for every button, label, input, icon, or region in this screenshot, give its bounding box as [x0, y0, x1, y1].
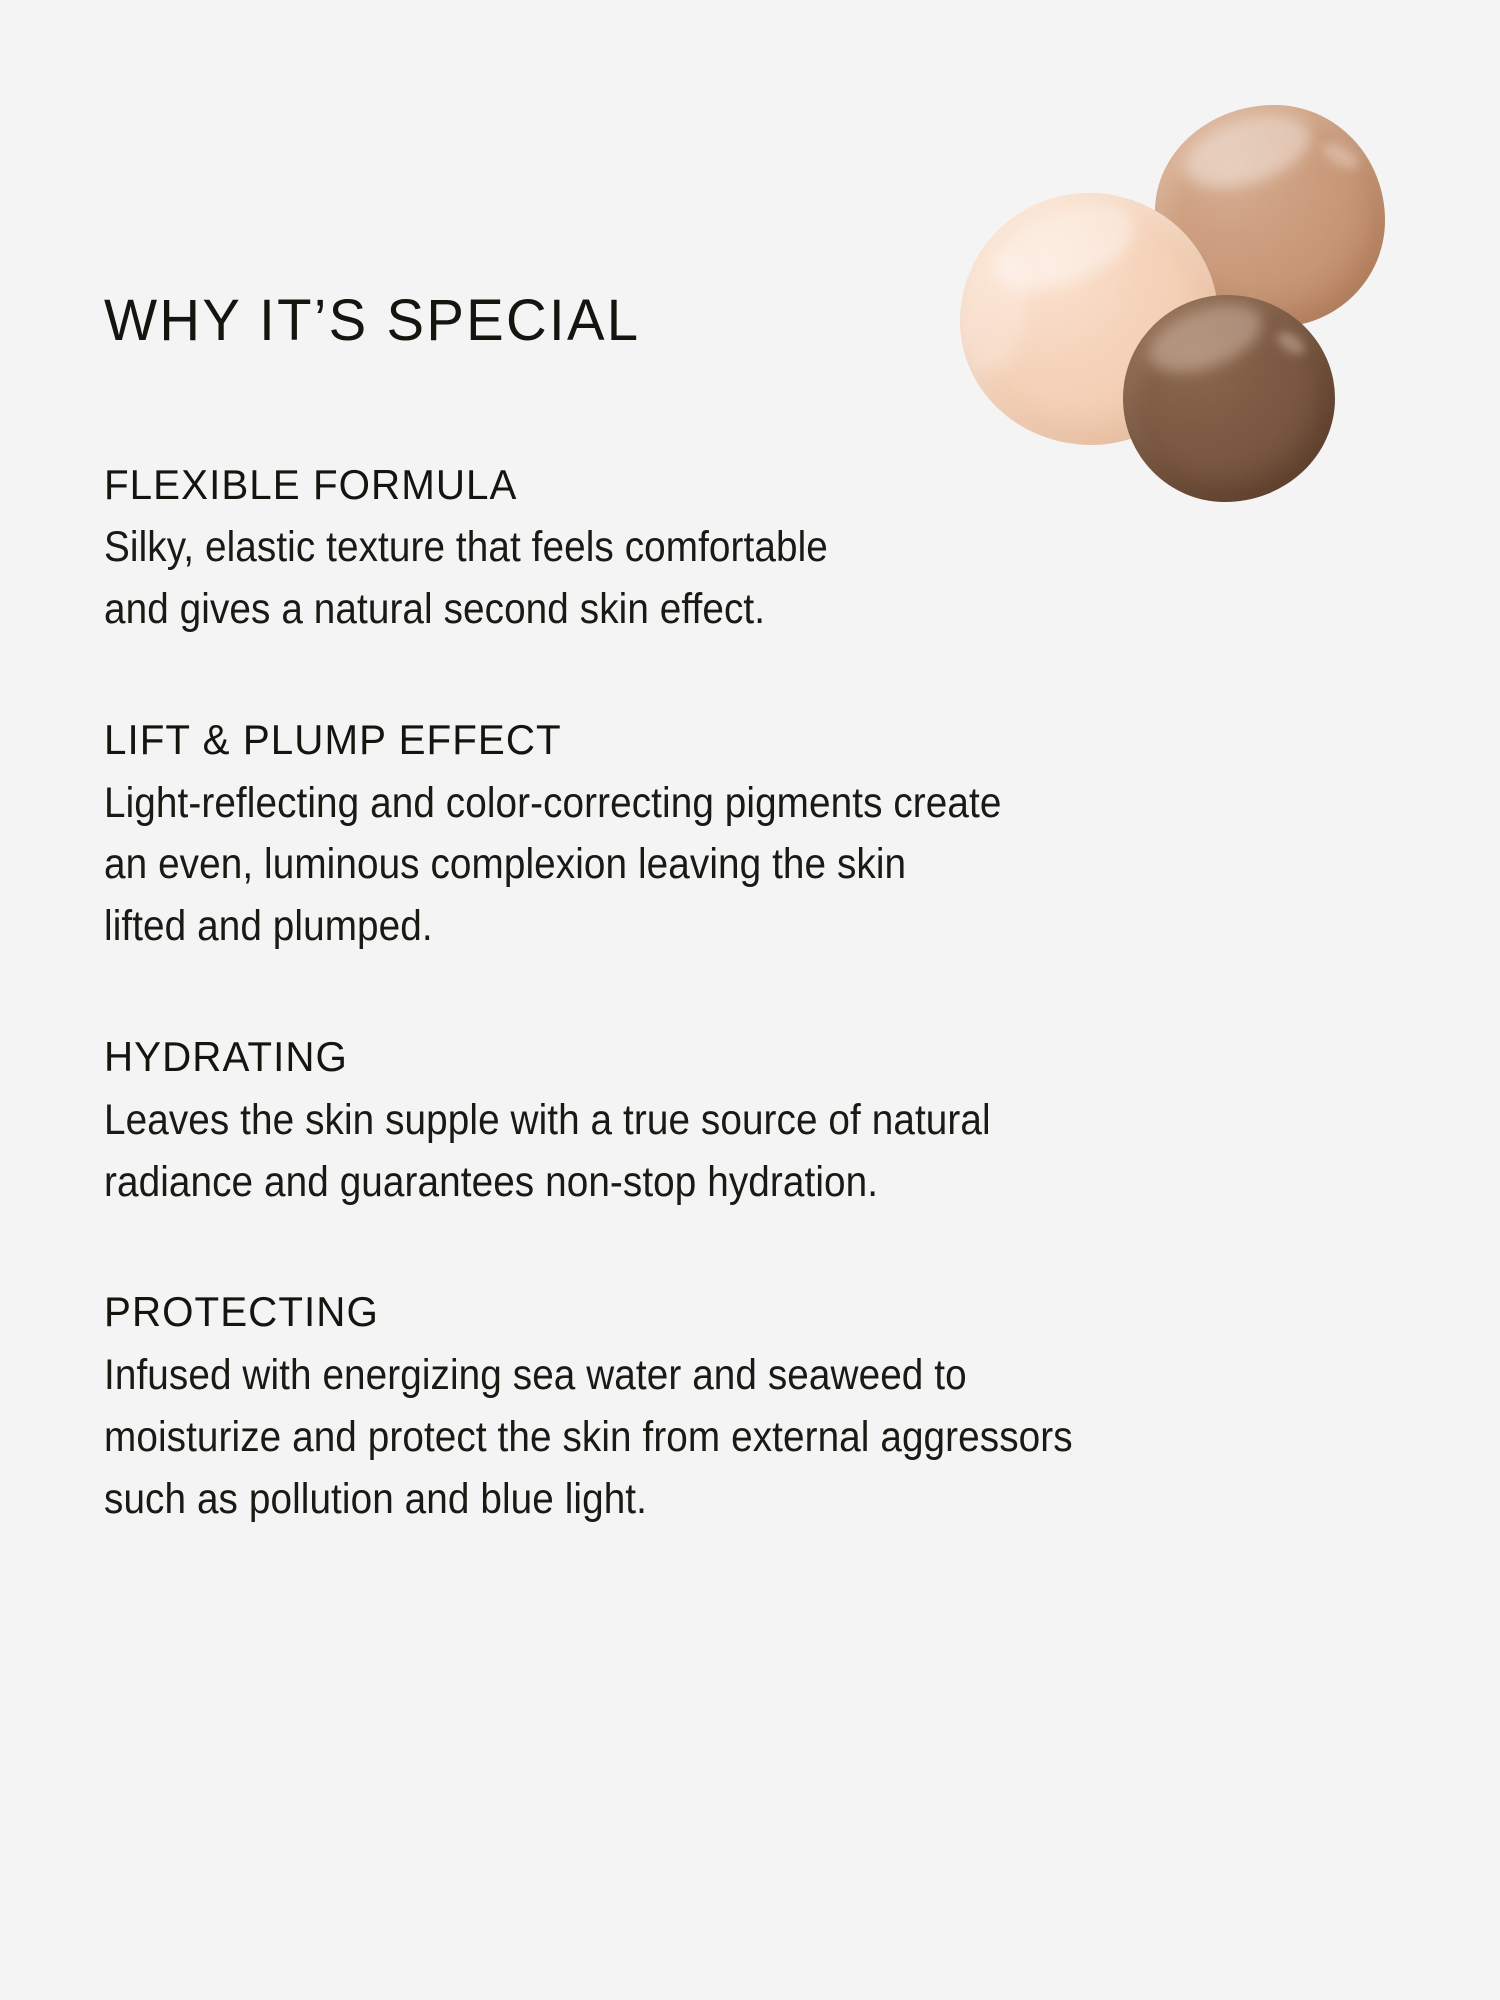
- section-body: Silky, elastic texture that feels comfor…: [104, 517, 1360, 641]
- section-flexible-formula: FLEXIBLE FORMULA Silky, elastic texture …: [104, 462, 1500, 641]
- section-body: Leaves the skin supple with a true sourc…: [104, 1090, 1360, 1214]
- section-heading: LIFT & PLUMP EFFECT: [104, 717, 1444, 762]
- section-heading: PROTECTING: [104, 1289, 1444, 1334]
- content-column: WHY IT’S SPECIAL FLEXIBLE FORMULA Silky,…: [0, 0, 1500, 1531]
- section-hydrating: HYDRATING Leaves the skin supple with a …: [104, 1034, 1500, 1213]
- page-title: WHY IT’S SPECIAL: [104, 0, 1458, 350]
- section-protecting: PROTECTING Infused with energizing sea w…: [104, 1289, 1500, 1530]
- section-lift-and-plump-effect: LIFT & PLUMP EFFECT Light-reflecting and…: [104, 717, 1500, 958]
- section-body: Infused with energizing sea water and se…: [104, 1345, 1360, 1531]
- section-heading: FLEXIBLE FORMULA: [104, 462, 1444, 507]
- section-heading: HYDRATING: [104, 1034, 1444, 1079]
- section-body: Light-reflecting and color-correcting pi…: [104, 773, 1360, 959]
- product-benefits-page: WHY IT’S SPECIAL FLEXIBLE FORMULA Silky,…: [0, 0, 1500, 2000]
